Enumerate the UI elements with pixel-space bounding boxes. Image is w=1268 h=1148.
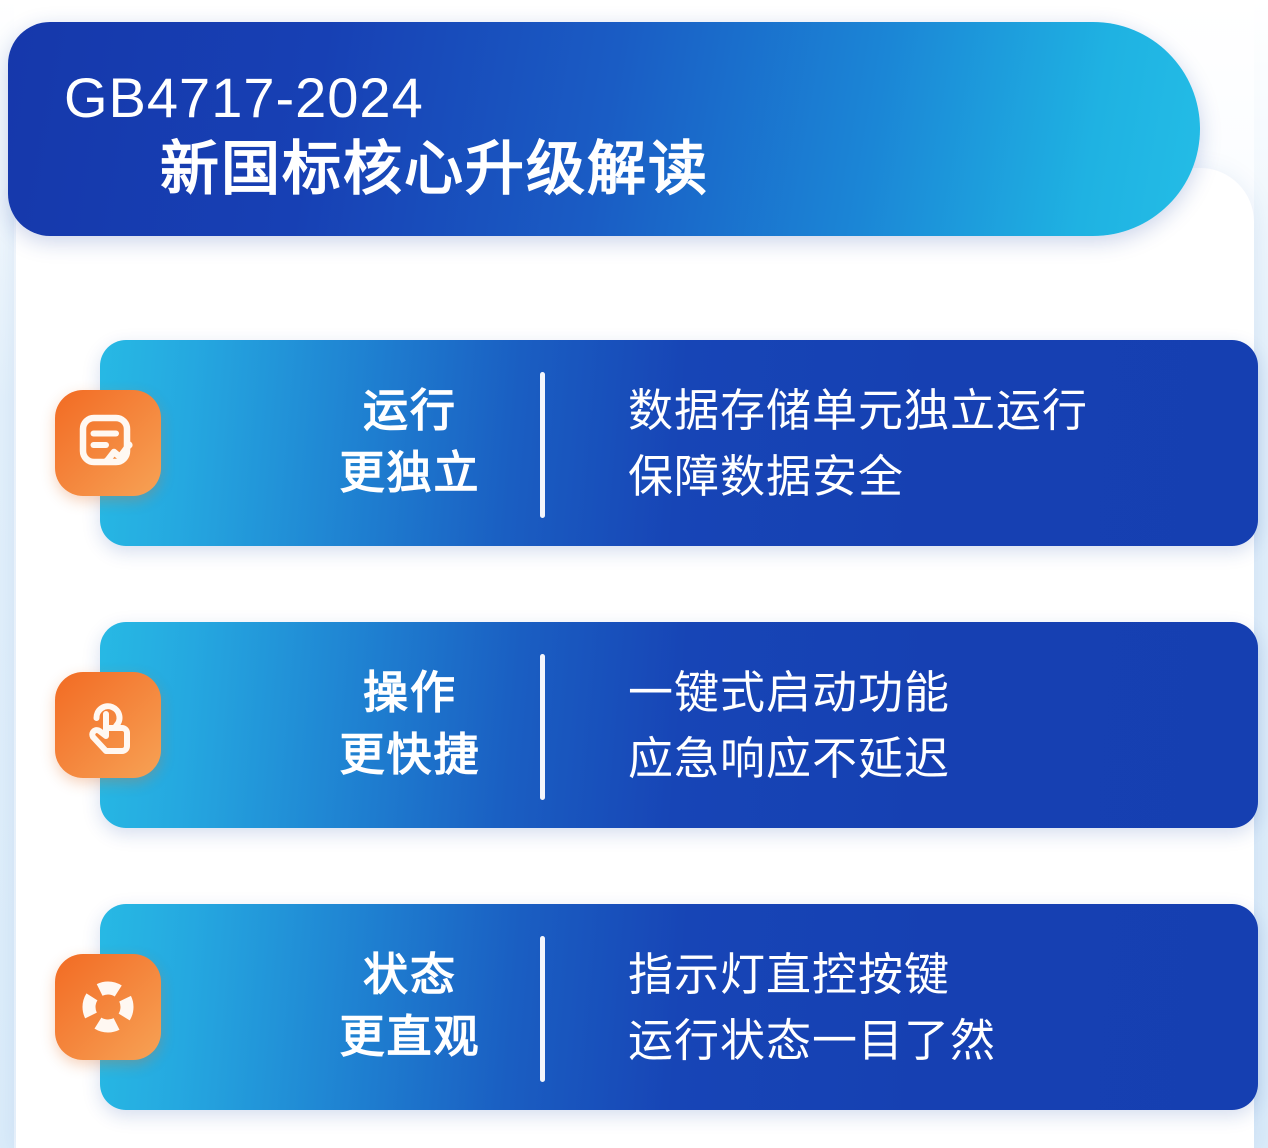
card-desc-line1: 数据存储单元独立运行 <box>628 378 1088 444</box>
card-desc-line2: 运行状态一目了然 <box>628 1008 996 1074</box>
feature-card[interactable]: 运行 更独立 数据存储单元独立运行 保障数据安全 <box>100 340 1258 546</box>
card-divider <box>540 372 545 518</box>
card-label-line2: 更快捷 <box>296 724 524 786</box>
card-label-line1: 操作 <box>296 662 524 724</box>
card-label: 状态 更直观 <box>296 944 524 1068</box>
card-description: 指示灯直控按键 运行状态一目了然 <box>628 942 996 1074</box>
card-description: 一键式启动功能 应急响应不延迟 <box>628 660 950 792</box>
infographic-poster: GB4717-2024 新国标核心升级解读 运行 更独立 数据存储单元独立运行 … <box>0 0 1268 1148</box>
tap-hand-icon <box>55 672 161 778</box>
segmented-ring-icon <box>55 954 161 1060</box>
card-desc-line2: 保障数据安全 <box>628 444 1088 510</box>
page-subtitle: 新国标核心升级解读 <box>160 140 709 199</box>
card-divider <box>540 654 545 800</box>
card-label-line1: 状态 <box>296 944 524 1006</box>
card-label-line2: 更独立 <box>296 442 524 504</box>
page-title: GB4717-2024 <box>64 70 424 126</box>
card-desc-line1: 指示灯直控按键 <box>628 942 996 1008</box>
card-divider <box>540 936 545 1082</box>
card-description: 数据存储单元独立运行 保障数据安全 <box>628 378 1088 510</box>
card-label: 运行 更独立 <box>296 380 524 504</box>
report-chart-icon <box>55 390 161 496</box>
card-label-line2: 更直观 <box>296 1006 524 1068</box>
header-banner: GB4717-2024 新国标核心升级解读 <box>8 22 1200 236</box>
feature-card[interactable]: 操作 更快捷 一键式启动功能 应急响应不延迟 <box>100 622 1258 828</box>
feature-card[interactable]: 状态 更直观 指示灯直控按键 运行状态一目了然 <box>100 904 1258 1110</box>
card-desc-line1: 一键式启动功能 <box>628 660 950 726</box>
card-label: 操作 更快捷 <box>296 662 524 786</box>
card-label-line1: 运行 <box>296 380 524 442</box>
card-desc-line2: 应急响应不延迟 <box>628 726 950 792</box>
